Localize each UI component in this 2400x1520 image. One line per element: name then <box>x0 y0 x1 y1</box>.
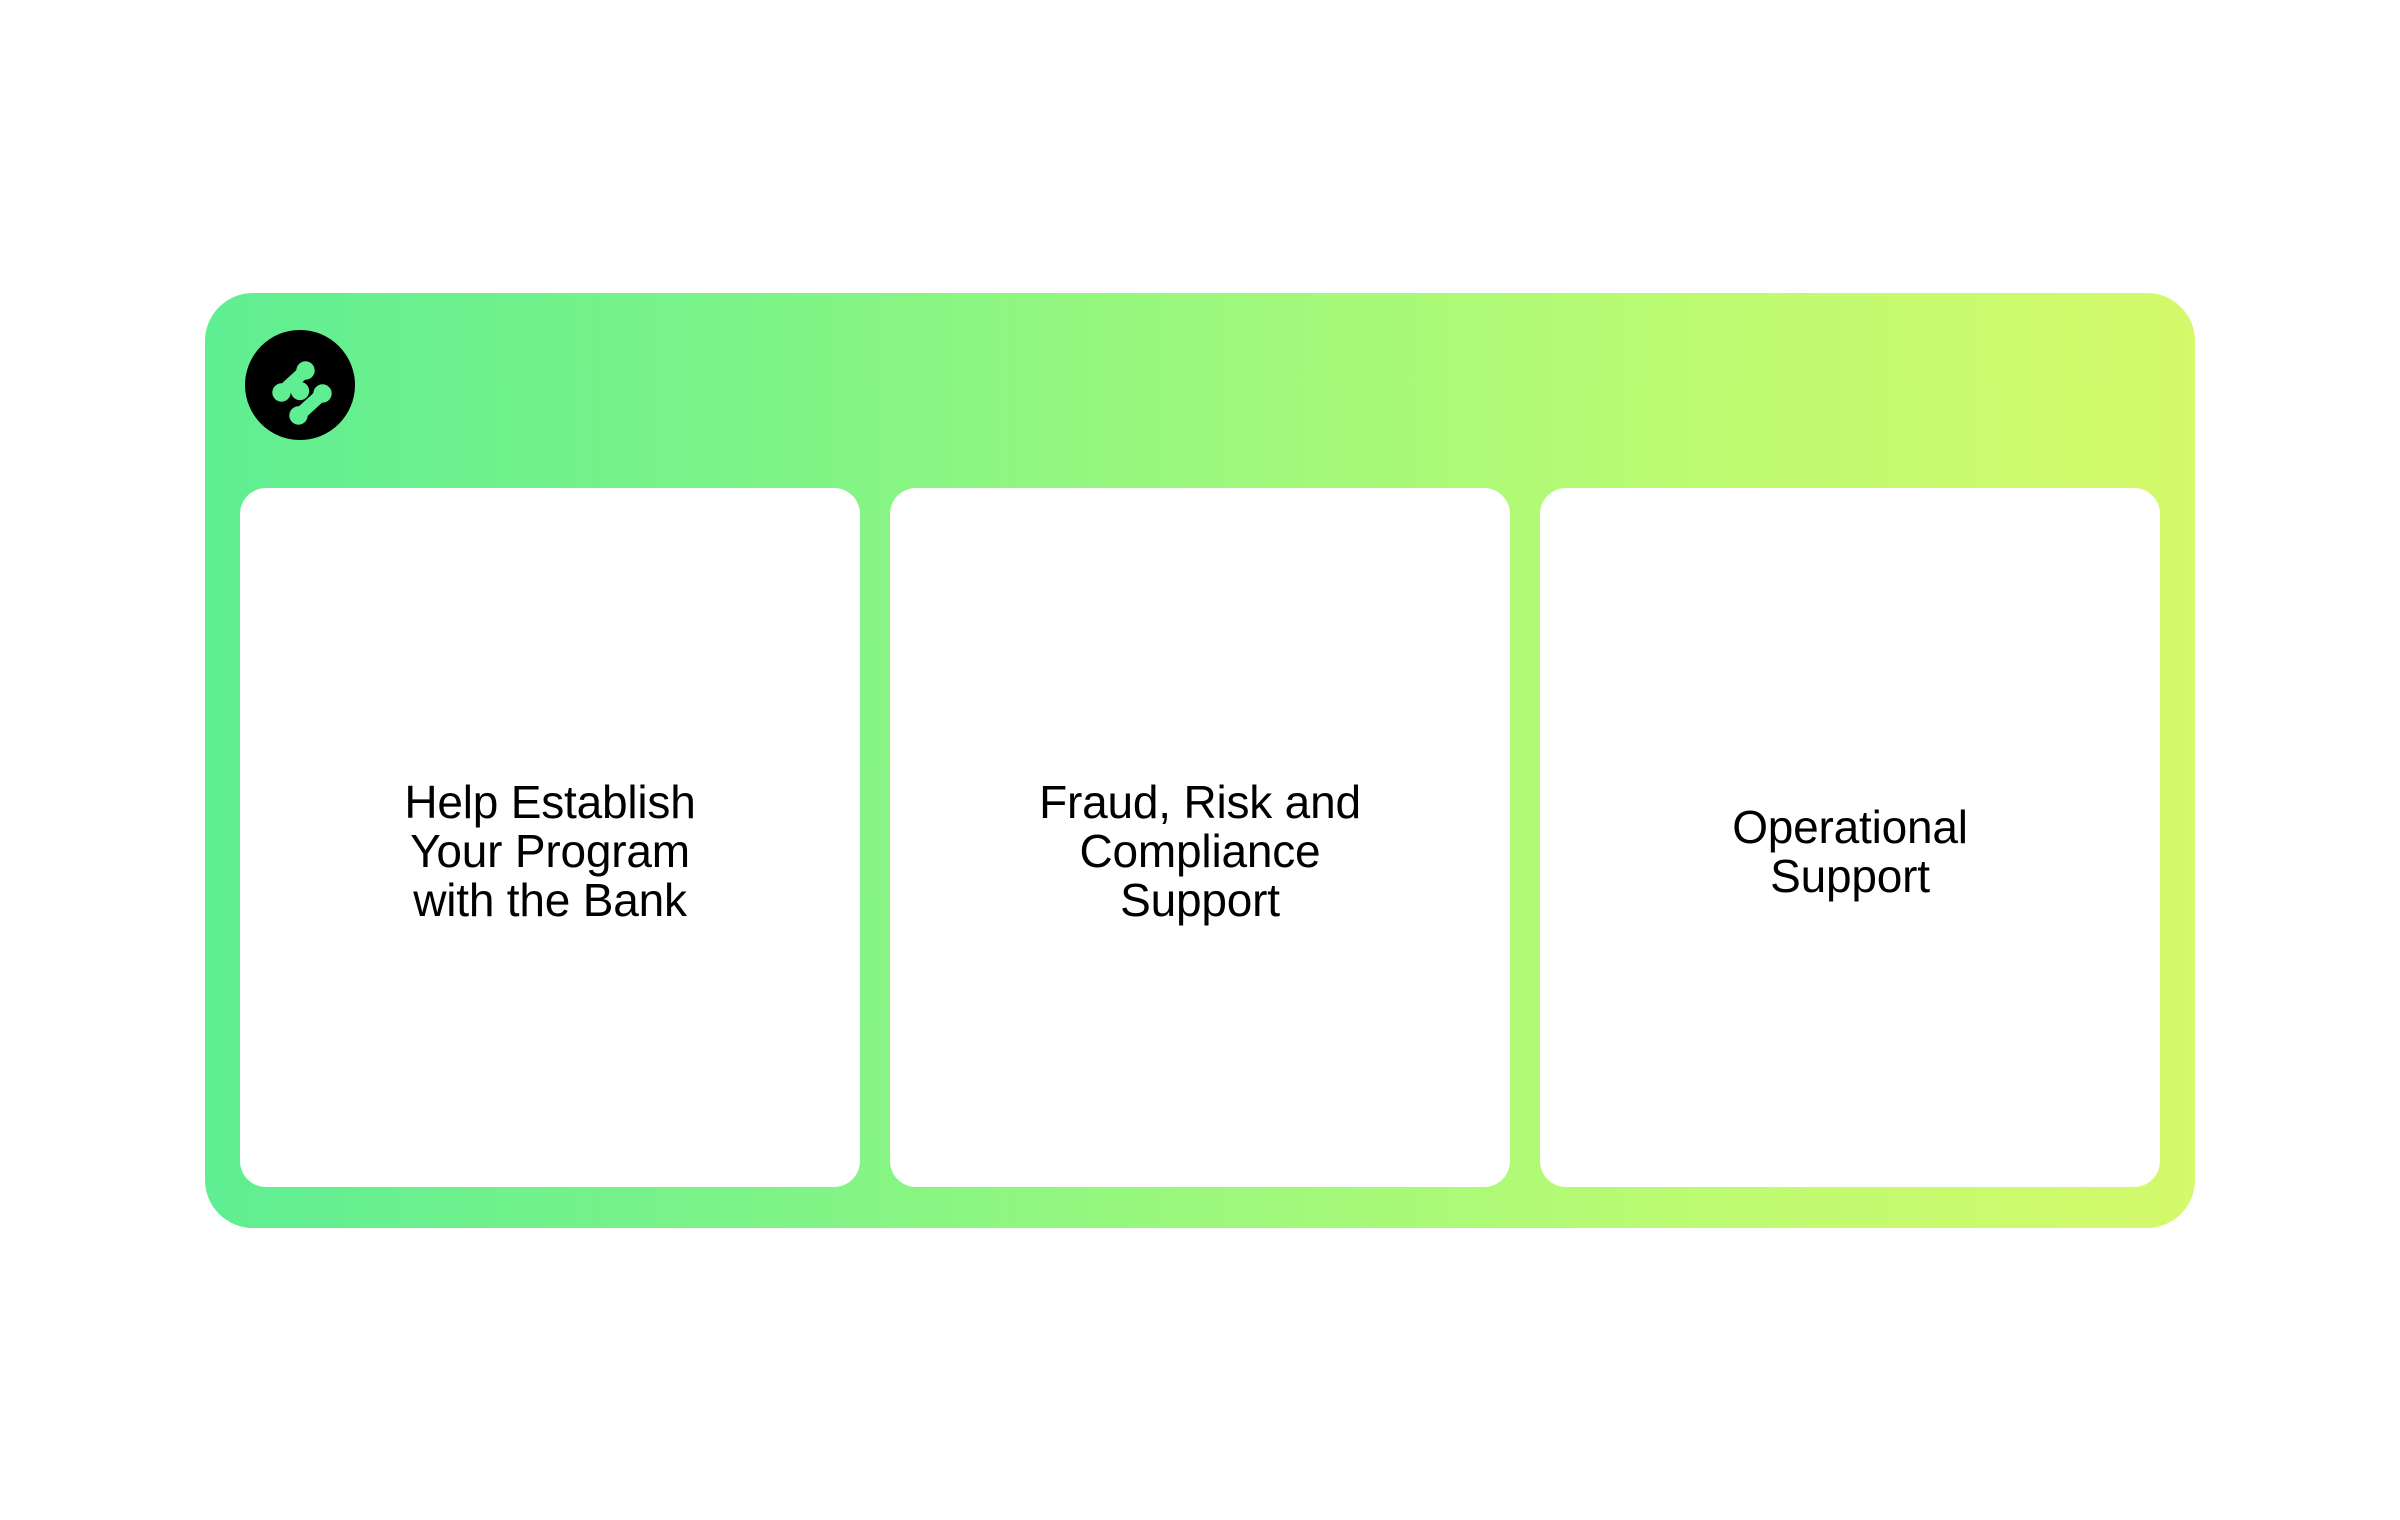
capability-card-title: Operational Support <box>1732 803 1968 901</box>
capability-card-title: Help Establish Your Program with the Ban… <box>404 778 695 924</box>
brand-logo[interactable] <box>245 330 355 440</box>
network-nodes-logo-icon <box>245 330 355 440</box>
capability-card-fraud-risk-compliance[interactable]: Fraud, Risk and Compliance Support <box>890 488 1510 1187</box>
capability-card-row: Help Establish Your Program with the Ban… <box>240 488 2160 1187</box>
capability-card-establish-program[interactable]: Help Establish Your Program with the Ban… <box>240 488 860 1187</box>
screenshot-canvas: Help Establish Your Program with the Ban… <box>0 0 2400 1520</box>
capability-card-operational-support[interactable]: Operational Support <box>1540 488 2160 1187</box>
capability-card-title: Fraud, Risk and Compliance Support <box>1039 778 1361 924</box>
capabilities-panel: Help Establish Your Program with the Ban… <box>205 293 2195 1228</box>
